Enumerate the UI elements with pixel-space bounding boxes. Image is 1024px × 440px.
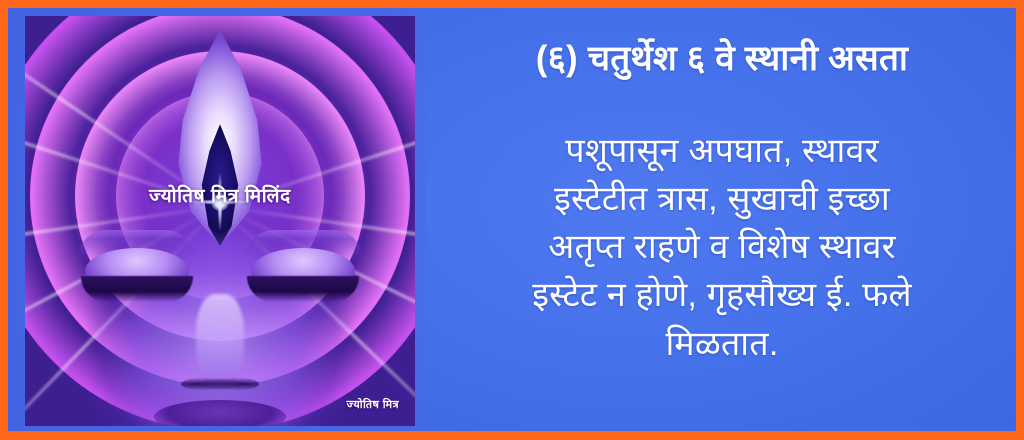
text-panel: (६) चतुर्थेश ६ वे स्थानी असता पशूपासून अ… — [428, 8, 1016, 431]
eyelid-right — [247, 276, 359, 302]
slide-canvas: ज्योतिष मित्र मिलिंद ज्योतिष मित्र (६) च… — [0, 0, 1024, 440]
border-top — [0, 0, 1024, 8]
body-line: पशूपासून अपघात, स्थावर — [428, 127, 1016, 175]
artwork-watermark-primary: ज्योतिष मित्र मिलिंद — [149, 182, 291, 208]
body-line: इस्टेटीत त्रास, सुखाची इच्छा — [428, 175, 1016, 223]
border-right — [1016, 0, 1024, 440]
nostrils — [181, 376, 259, 392]
body-line: इस्टेट न होणे, गृहसौख्य ई. फले — [428, 271, 1016, 319]
slide-body: पशूपासून अपघात, स्थावर इस्टेटीत त्रास, स… — [428, 127, 1016, 368]
artwork-panel: ज्योतिष मित्र मिलिंद ज्योतिष मित्र — [8, 8, 426, 431]
eyelid-left — [81, 276, 193, 302]
slide-heading: (६) चतुर्थेश ६ वे स्थानी असता — [428, 38, 1016, 81]
lips — [154, 400, 286, 426]
border-left — [0, 0, 8, 440]
artwork-image: ज्योतिष मित्र मिलिंद ज्योतिष मित्र — [25, 16, 415, 426]
body-line: अतृप्त राहणे व विशेष स्थावर — [428, 223, 1016, 271]
artwork-watermark-secondary: ज्योतिष मित्र — [347, 397, 399, 412]
border-bottom — [0, 431, 1024, 440]
nose — [196, 294, 244, 386]
body-line: मिळतात. — [428, 320, 1016, 368]
